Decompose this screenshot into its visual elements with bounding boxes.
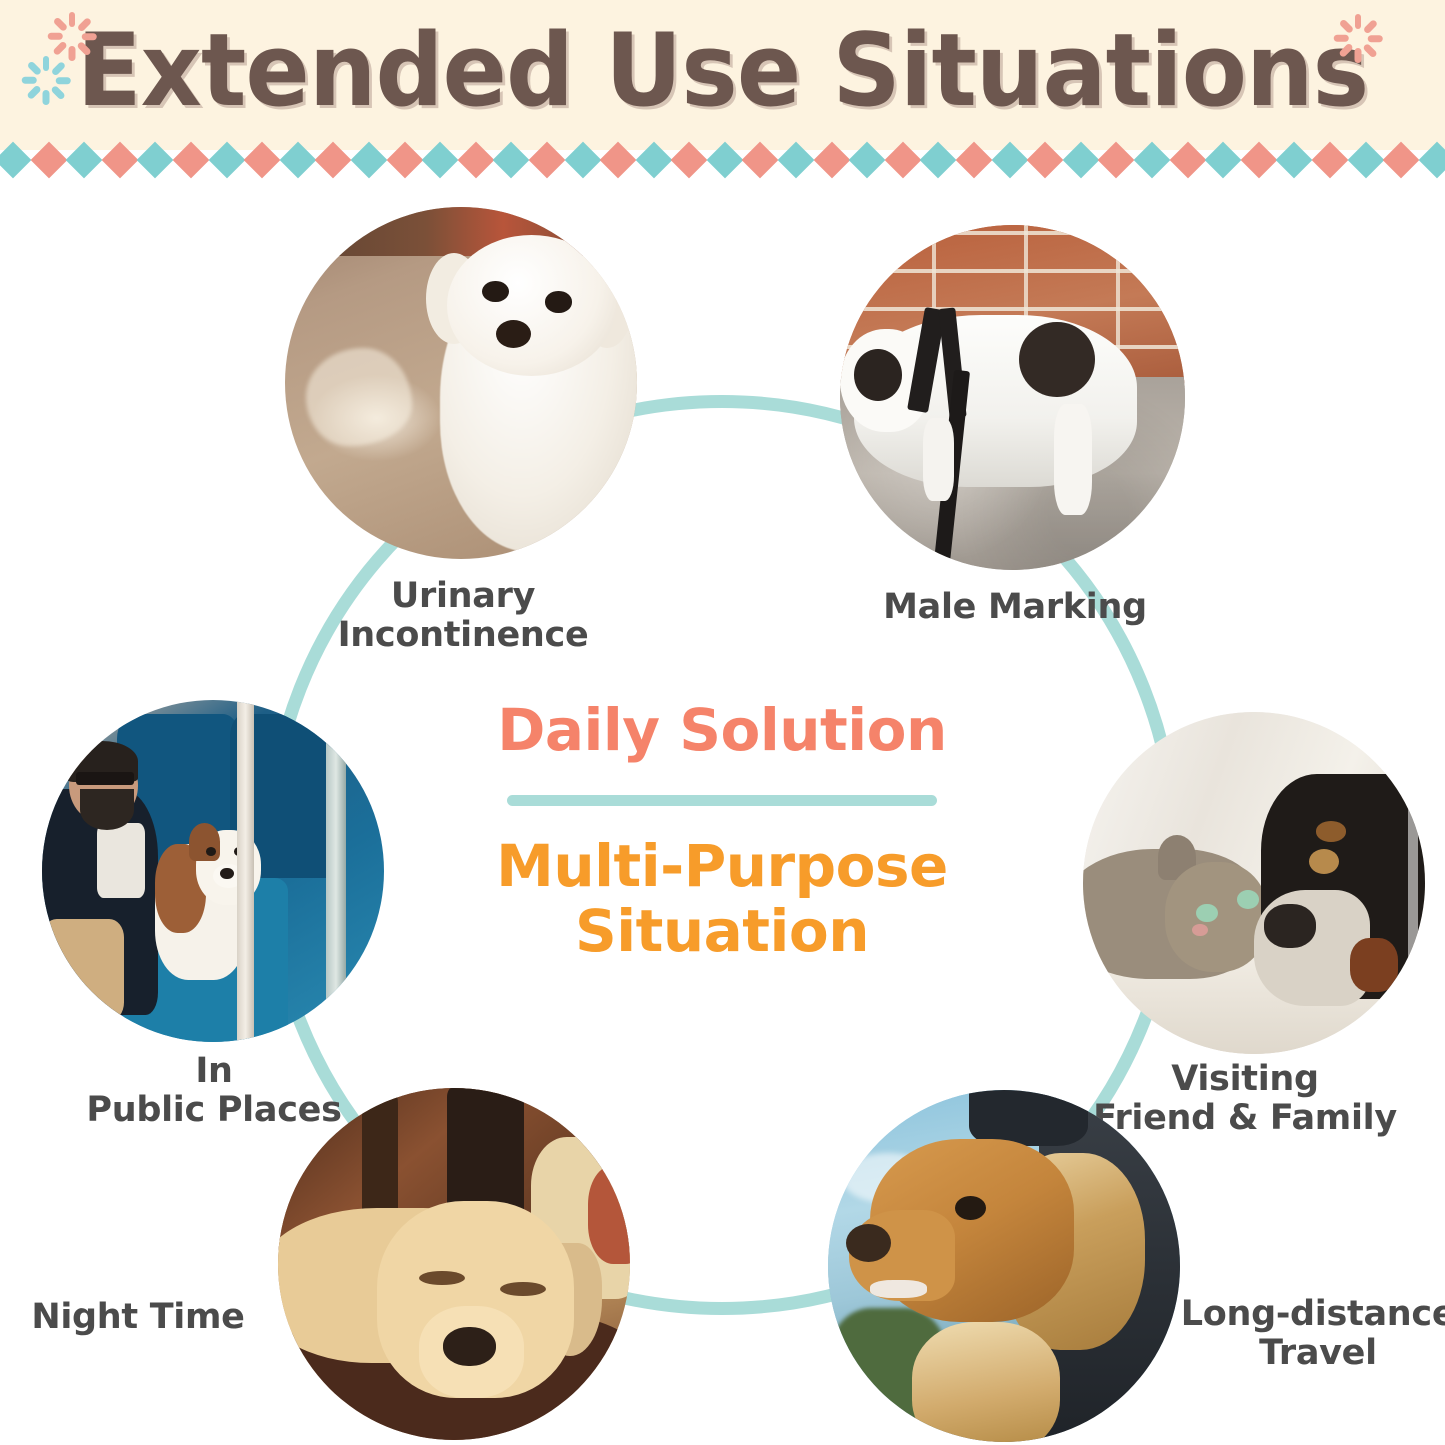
node-in-public-places[interactable]: In Public Places [42, 700, 384, 1042]
node-visiting-friend-family[interactable]: Visiting Friend & Family [1083, 712, 1425, 1054]
node-label-long-distance-travel: Long-distance Travel [1173, 1295, 1445, 1373]
center-headline-secondary: Multi-Purpose Situation [402, 834, 1042, 964]
photo-visiting-friend-family [1083, 712, 1425, 1054]
node-male-marking[interactable]: Male Marking [840, 225, 1185, 570]
photo-in-public-places [42, 700, 384, 1042]
node-label-male-marking: Male Marking [850, 588, 1180, 627]
photo-night-time [278, 1088, 630, 1440]
node-long-distance-travel[interactable]: Long-distance Travel [828, 1090, 1180, 1442]
node-night-time[interactable]: Night Time [278, 1088, 630, 1440]
node-urinary-incontinence[interactable]: Urinary Incontinence [285, 207, 637, 559]
node-label-urinary-incontinence: Urinary Incontinence [263, 577, 663, 655]
infographic-page: Extended Use Situations [0, 0, 1445, 1445]
center-headline-primary: Daily Solution [402, 700, 1042, 761]
header-band: Extended Use Situations [0, 0, 1445, 140]
starburst-salmon-right-icon [1330, 10, 1386, 66]
page-title: Extended Use Situations [43, 0, 1401, 140]
center-text-block: Daily Solution Multi-Purpose Situation [402, 700, 1042, 964]
photo-urinary-incontinence [285, 207, 637, 559]
starburst-teal-icon [18, 52, 74, 108]
diamond-divider [0, 140, 1445, 182]
photo-male-marking [840, 225, 1185, 570]
photo-long-distance-travel [828, 1090, 1180, 1442]
center-divider [507, 795, 937, 806]
node-label-night-time: Night Time [3, 1298, 273, 1337]
